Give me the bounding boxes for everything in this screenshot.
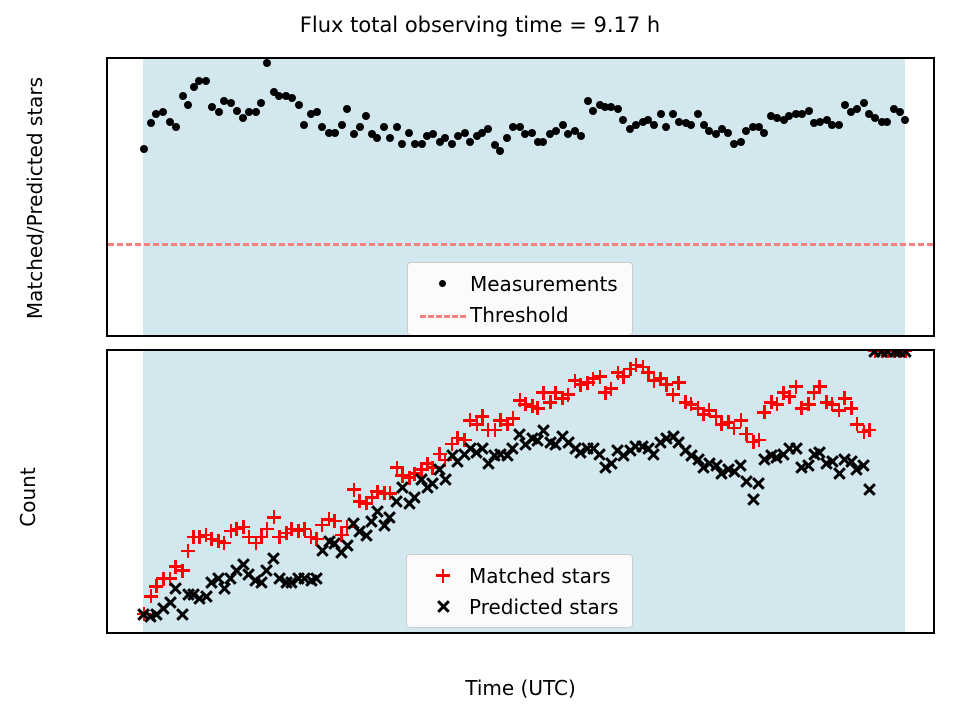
legend-label-threshold: Threshold (470, 303, 569, 327)
data-point (614, 105, 622, 113)
x-tick-mark (459, 632, 461, 634)
data-point (215, 108, 223, 116)
legend-item-threshold[interactable]: Threshold (418, 301, 618, 328)
data-point (386, 134, 394, 142)
y-tick-mark (106, 611, 108, 613)
data-point (584, 97, 592, 105)
data-point (760, 129, 768, 137)
cross-marker-icon (417, 597, 469, 617)
data-point (338, 121, 346, 129)
x-tick-mark (293, 632, 295, 634)
x-tick-mark (376, 632, 378, 634)
y-tick-mark (106, 562, 108, 564)
data-point (853, 105, 861, 113)
data-point (559, 121, 567, 129)
x-tick-mark (791, 335, 793, 337)
top-panel-axes: 0.00.51.01.5 Measurements Threshold (106, 57, 935, 337)
data-point (841, 101, 849, 109)
plus-marker-icon (417, 566, 469, 586)
data-point (901, 116, 909, 124)
x-tick-mark (128, 632, 130, 634)
x-tick-mark (791, 632, 793, 634)
data-point (295, 101, 303, 109)
top-y-axis-label: Matched/Predicted stars (23, 48, 47, 348)
data-point (331, 129, 339, 137)
data-point (356, 123, 364, 131)
data-point (883, 118, 891, 126)
x-tick-mark (128, 335, 130, 337)
x-tick-mark (211, 335, 213, 337)
data-point (860, 99, 868, 107)
data-point (313, 108, 321, 116)
bottom-y-axis-label: Count (16, 397, 40, 597)
data-point (418, 140, 426, 148)
legend-label-measurements: Measurements (470, 272, 618, 296)
data-point (343, 105, 351, 113)
x-tick-mark (542, 632, 544, 634)
bottom-legend: Matched stars Predicted stars (406, 554, 633, 628)
legend-item-predicted-stars[interactable]: Predicted stars (417, 593, 618, 620)
legend-item-matched-stars[interactable]: Matched stars (417, 562, 618, 589)
legend-item-measurements[interactable]: Measurements (418, 270, 618, 297)
page-title: Flux total observing time = 9.17 h (0, 13, 960, 37)
data-point (405, 129, 413, 137)
x-tick-mark (293, 335, 295, 337)
data-point (737, 138, 745, 146)
data-point (657, 110, 665, 118)
y-tick-mark (106, 463, 108, 465)
y-tick-mark (106, 242, 108, 244)
data-point (577, 132, 585, 140)
x-axis-label: Time (UTC) (106, 676, 935, 700)
top-legend: Measurements Threshold (407, 262, 633, 336)
legend-label-predicted-stars: Predicted stars (469, 595, 618, 619)
x-tick-mark (625, 335, 627, 337)
y-tick-mark (106, 512, 108, 514)
x-tick-mark (708, 632, 710, 634)
data-point (398, 140, 406, 148)
data-point (263, 59, 271, 67)
bottom-panel-axes: 75100125150175200 09:0010:0011:0012:0013… (106, 349, 935, 634)
y-tick-mark (106, 334, 108, 336)
data-point (448, 140, 456, 148)
threshold-line (108, 243, 933, 246)
x-tick-mark (874, 335, 876, 337)
y-tick-mark (106, 58, 108, 60)
dashed-line-icon (418, 305, 470, 325)
dot-marker-icon (418, 274, 470, 294)
data-point (552, 127, 560, 135)
data-point (805, 107, 813, 115)
data-point (466, 138, 474, 146)
figure-canvas: Flux total observing time = 9.17 h 0.00.… (0, 0, 960, 720)
x-tick-mark (625, 632, 627, 634)
y-tick-mark (106, 413, 108, 415)
x-tick-mark (459, 335, 461, 337)
data-point (589, 107, 597, 115)
data-point (461, 129, 469, 137)
data-point (233, 107, 241, 115)
legend-label-matched-stars: Matched stars (469, 564, 611, 588)
data-point (484, 125, 492, 133)
data-point (179, 92, 187, 100)
x-tick-mark (708, 335, 710, 337)
y-tick-mark (106, 150, 108, 152)
data-point (528, 129, 536, 137)
data-point (172, 123, 180, 131)
data-point (393, 123, 401, 131)
x-tick-mark (376, 335, 378, 337)
data-point (288, 94, 296, 102)
y-tick-mark (106, 364, 108, 366)
x-tick-mark (211, 632, 213, 634)
x-tick-mark (542, 335, 544, 337)
x-tick-mark (874, 632, 876, 634)
